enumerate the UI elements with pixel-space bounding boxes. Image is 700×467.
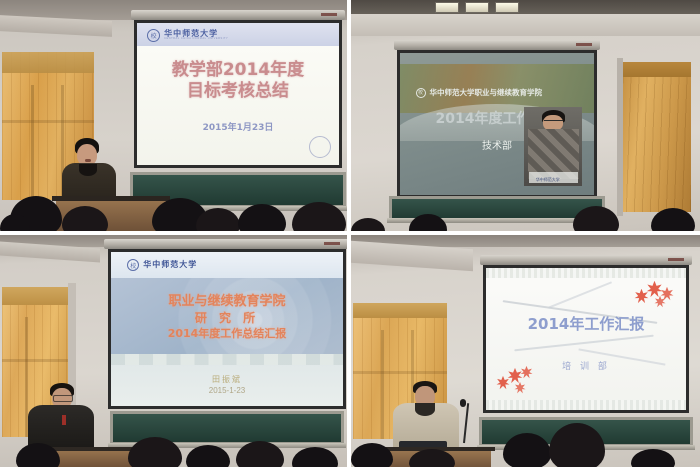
photo-panel-bottom-right: 2014年工作汇报 培 训 部 [351,235,700,467]
maple-leaf-icon [660,287,674,301]
slide-title-line-1: 教学部2014年度 [137,60,339,81]
maple-leaf-icon [634,289,649,304]
curtain-valance [2,287,68,305]
projection-screen: 校 华中师范大学 CENTRAL CHINA NORMAL UNIVERSITY… [134,20,342,168]
college-banner: 校 华中师范大学职业与继续教育学院 [416,87,543,98]
screen-surface: 校 华中师范大学 CENTRAL CHINA NORMAL UNIVERSITY… [137,23,339,165]
slide-title-line-2: 研 究 所 [111,311,343,327]
maple-leaf-icon [514,382,526,394]
slide-title-line-2: 目标考核总结 [137,81,339,102]
slide-research-institute-summary: 校 华中师范大学 职业与继续教育学院 研 究 所 2014年度工作总结汇报 田振… [111,252,343,406]
curtain-pleats [623,62,691,212]
slide-bottom-border [486,400,686,410]
speaker-mouth [85,159,91,162]
screen-surface: 校 华中师范大学职业与继续教育学院 2014年度工作报告 技术部 华中师范大学 [400,53,594,195]
screen-roller-case [104,239,347,249]
projection-screen: 校 华中师范大学职业与继续教育学院 2014年度工作报告 技术部 华中师范大学 [397,50,597,198]
curtain-valance [623,62,691,77]
projection-screen: 校 华中师范大学 职业与继续教育学院 研 究 所 2014年度工作总结汇报 田振… [108,249,346,409]
curtain-valance [353,303,447,318]
window-jamb [617,58,623,216]
window-mullion [381,330,384,439]
ceiling-soffit [351,14,700,36]
logo-name-cn: 华中师范大学 [143,261,197,269]
portrait-glasses-icon [544,120,563,124]
maple-leaf-icon [654,296,666,308]
video-portrait: 华中师范大学 [524,107,582,187]
slide-title-line-3: 2014年度工作总结汇报 [111,327,343,341]
seal-icon: 校 [416,88,426,98]
slide-lower-band: 田振斌 2015-1-23 [111,354,343,406]
screen-surface: 校 华中师范大学 职业与继续教育学院 研 究 所 2014年度工作总结汇报 田振… [111,252,343,406]
university-logo: 校 华中师范大学 CENTRAL CHINA NORMAL UNIVERSITY [147,26,228,44]
window-transom [353,371,447,374]
maple-leaf-icon [646,281,663,298]
projection-screen: 2014年工作汇报 培 训 部 [483,265,689,413]
slide-department: 培 训 部 [486,359,686,372]
portrait-body [528,129,579,178]
window-curtain [623,62,691,212]
window-transom [2,120,94,123]
maple-leaf-icon [496,376,510,390]
photo-collage: 校 华中师范大学 CENTRAL CHINA NORMAL UNIVERSITY… [0,0,700,467]
screen-roller-case [394,40,600,50]
ceiling-light [435,2,459,13]
logo-name-en: CENTRAL CHINA NORMAL UNIVERSITY [164,38,228,41]
slide-teaching-dept-summary: 校 华中师范大学 CENTRAL CHINA NORMAL UNIVERSITY… [137,23,339,165]
maple-leaf-cluster-top-right [634,281,678,311]
speaker-collar [79,164,97,176]
podium-top-edge [52,196,170,201]
slide-watermark-seal-icon [309,136,331,158]
speaker-accent [62,415,66,425]
photo-panel-bottom-left: 校 华中师范大学 职业与继续教育学院 研 究 所 2014年度工作总结汇报 田振… [0,235,347,467]
slide-stripe-band [111,354,343,366]
speaker-glasses-icon [53,395,73,402]
photo-panel-top-right: 校 华中师范大学职业与继续教育学院 2014年度工作报告 技术部 华中师范大学 [351,0,700,231]
window-mullion [31,85,34,200]
ceiling-light [465,2,489,13]
slide-title: 2014年工作汇报 [486,313,686,334]
slide-date: 2015-1-23 [111,386,343,395]
slide-top-border [486,268,686,278]
slide-date: 2015年1月23日 [137,120,339,133]
university-logo: 校 华中师范大学 [127,255,197,275]
screen-surface: 2014年工作汇报 培 训 部 [486,268,686,410]
slide-tech-dept-report: 校 华中师范大学职业与继续教育学院 2014年度工作报告 技术部 华中师范大学 [400,53,594,195]
seal-icon: 校 [147,29,160,42]
slide-training-dept-report: 2014年工作汇报 培 训 部 [486,268,686,410]
curtain-valance [2,52,94,73]
portrait-badge-text: 华中师范大学 [536,177,560,183]
slide-presenter-name: 田振斌 [111,374,343,385]
college-banner-text: 华中师范大学职业与继续教育学院 [430,87,543,98]
photo-panel-top-left: 校 华中师范大学 CENTRAL CHINA NORMAL UNIVERSITY… [0,0,347,231]
window-transom [2,359,68,362]
seal-icon: 校 [127,259,139,271]
slide-title-line-1: 职业与继续教育学院 [111,294,343,311]
microphone-head-icon [460,399,466,407]
ceiling-light [495,2,519,13]
screen-roller-case [480,255,692,265]
screen-roller-case [131,10,345,20]
speaker-collar [415,403,435,416]
